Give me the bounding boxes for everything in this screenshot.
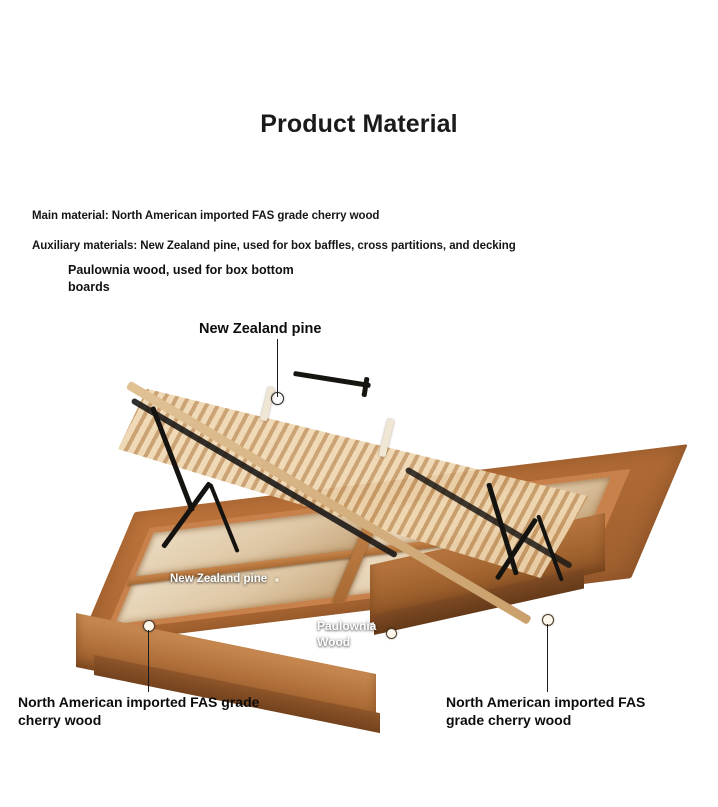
product-material-infographic: Product Material Main material: North Am… — [0, 0, 718, 807]
spec-paulownia-note: Paulownia wood, used for box bottom boar… — [68, 262, 318, 296]
slat-platform — [118, 363, 598, 578]
callout-cherry-wood-left: North American imported FAS grade cherry… — [18, 694, 288, 729]
leader-dot-new-zealand-pine-box — [275, 578, 279, 582]
callout-new-zealand-pine-box: New Zealand pine — [170, 572, 267, 587]
storage-bed-photo — [60, 355, 660, 725]
gas-lift-strut — [208, 483, 239, 553]
leader-line-cherry-wood-left — [148, 630, 149, 692]
webbing-strap — [260, 387, 275, 422]
callout-new-zealand-pine-top: New Zealand pine — [199, 320, 321, 338]
page-title: Product Material — [0, 110, 718, 139]
callout-paulownia-wood: Paulownia Wood — [317, 619, 387, 650]
leader-dot-paulownia-wood — [386, 628, 397, 639]
callout-cherry-wood-right: North American imported FAS grade cherry… — [446, 694, 676, 729]
leader-line-new-zealand-pine — [277, 339, 278, 397]
lift-handle-bar — [293, 371, 371, 388]
spec-auxiliary-materials: Auxiliary materials: New Zealand pine, u… — [32, 240, 516, 252]
leader-dot-new-zealand-pine — [271, 392, 284, 405]
spec-main-material: Main material: North American imported F… — [32, 210, 379, 222]
pine-slats-overlay — [118, 363, 598, 578]
leader-line-cherry-wood-right — [547, 624, 548, 692]
